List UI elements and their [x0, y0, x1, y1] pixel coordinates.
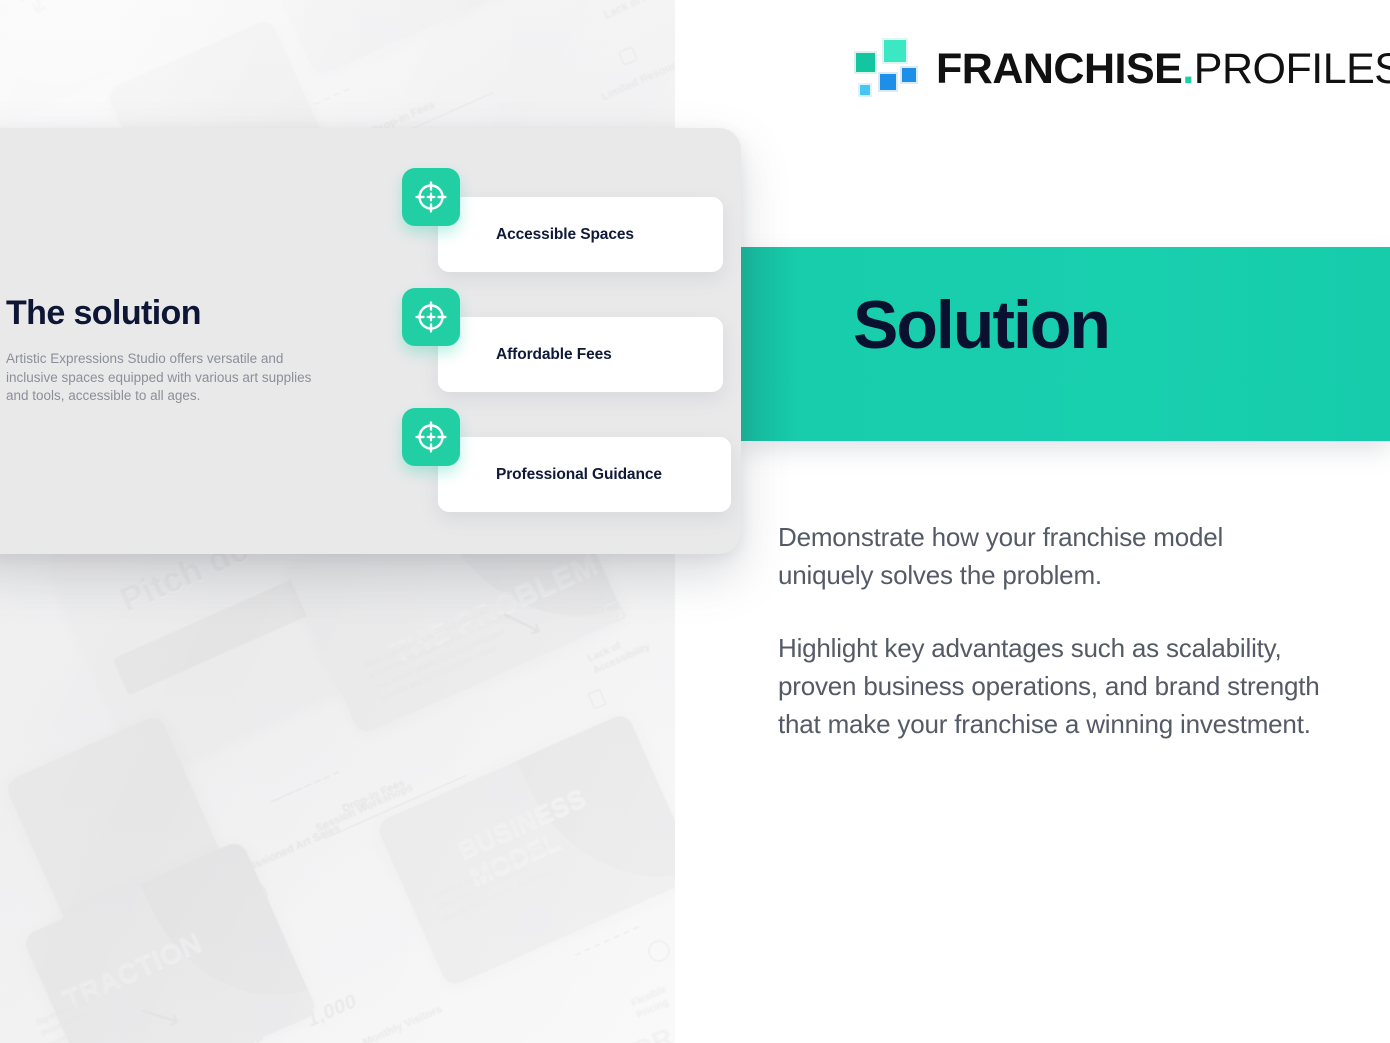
- bg-dashed-line: [575, 926, 640, 956]
- bg-icon-square: [603, 599, 627, 624]
- bg-slide-title: FUNDRAISING: [574, 981, 675, 1043]
- brand-logo: FRANCHISE.PROFILES: [852, 38, 1390, 100]
- bg-slide-title: TRACTION: [58, 926, 207, 1016]
- bg-divider: [324, 775, 466, 840]
- bg-slide: [375, 712, 675, 988]
- bg-dashed-line: [270, 779, 321, 803]
- bg-icon-ring: [617, 45, 638, 66]
- feature-label: Professional Guidance: [496, 466, 662, 484]
- slide-preview-title: The solution: [6, 294, 201, 333]
- bg-slide-title: BUSINESS MODEL: [454, 790, 587, 891]
- bg-slide: [22, 839, 319, 1043]
- slide-preview-content: The solution Artistic Expressions Studio…: [0, 128, 741, 554]
- feature-label: Affordable Fees: [496, 346, 612, 364]
- bg-slide: [222, 0, 617, 77]
- bg-slide: [4, 714, 237, 957]
- logo-wordmark: FRANCHISE.PROFILES: [936, 48, 1390, 91]
- bg-stat-label: Monthly Visitors: [361, 1003, 444, 1043]
- bg-arrow-icon: ⟶: [496, 600, 548, 646]
- logo-text-light: PROFILES: [1194, 48, 1390, 91]
- bg-stat-value: 1,000: [304, 990, 361, 1032]
- bg-slide-text: Pitch deck: [0, 4, 11, 36]
- bg-slide: [0, 0, 275, 142]
- bg-dashed-line: [294, 88, 350, 114]
- section-banner: Solution: [740, 247, 1390, 441]
- bg-label: Session Workshops: [314, 781, 415, 835]
- bg-label: Commissioned Art Sales: [219, 822, 342, 886]
- section-title: Solution: [853, 291, 1109, 359]
- bg-slide-body: Revenue generation through diverse strea…: [430, 835, 573, 926]
- bg-arrow-icon: ↷: [13, 0, 51, 28]
- slide-preview-subtitle: Artistic Expressions Studio offers versa…: [6, 350, 321, 406]
- description-paragraph-2: Highlight key advantages such as scalabi…: [778, 630, 1323, 743]
- bg-label: Limited Resources: [600, 53, 675, 104]
- description-paragraph-1: Demonstrate how your franchise model uni…: [778, 519, 1323, 594]
- feature-label: Accessible Spaces: [496, 226, 634, 244]
- crosshair-icon: [402, 288, 460, 346]
- bg-label: Drop-in Fees: [340, 777, 406, 815]
- section-description: Demonstrate how your franchise model uni…: [778, 519, 1323, 743]
- right-content-panel: FRANCHISE.PROFILES Solution Demonstrate …: [675, 0, 1390, 1043]
- bg-coin-icon: [644, 936, 673, 965]
- logo-mark-icon: [852, 38, 914, 100]
- bg-slide-body: Significant milestones demonstrating the…: [34, 965, 168, 1043]
- bg-arrow-icon: ⟶: [137, 996, 184, 1035]
- logo-text-bold: FRANCHISE: [936, 48, 1182, 91]
- bg-stat-value: 75: [243, 1035, 271, 1043]
- bg-hourglass-icon: [587, 688, 607, 710]
- bg-dashed-line: [275, 771, 340, 801]
- feature-card[interactable]: Accessible Spaces: [438, 197, 723, 272]
- bg-slide-body: Many individuals and communities lack ac…: [363, 596, 529, 706]
- logo-text-dot: .: [1182, 48, 1193, 91]
- crosshair-icon: [402, 168, 460, 226]
- bg-label: Lack of Accessibility: [586, 624, 662, 677]
- slide-canvas: Pitch deck ↷ Drop-in Fees Lack of Access…: [0, 0, 1390, 1043]
- bg-coin-icon: [232, 880, 268, 916]
- slide-preview-card[interactable]: The solution Artistic Expressions Studio…: [0, 128, 741, 554]
- bg-slide-title: THE PROBLEM: [385, 548, 603, 670]
- bg-label: Lack of Accessibility: [602, 0, 675, 22]
- feature-card[interactable]: Professional Guidance: [438, 437, 731, 512]
- bg-label: Flexible Pricing: [629, 974, 675, 1022]
- feature-card[interactable]: Affordable Fees: [438, 317, 723, 392]
- crosshair-icon: [402, 408, 460, 466]
- bg-label: Limited Resources: [564, 711, 640, 764]
